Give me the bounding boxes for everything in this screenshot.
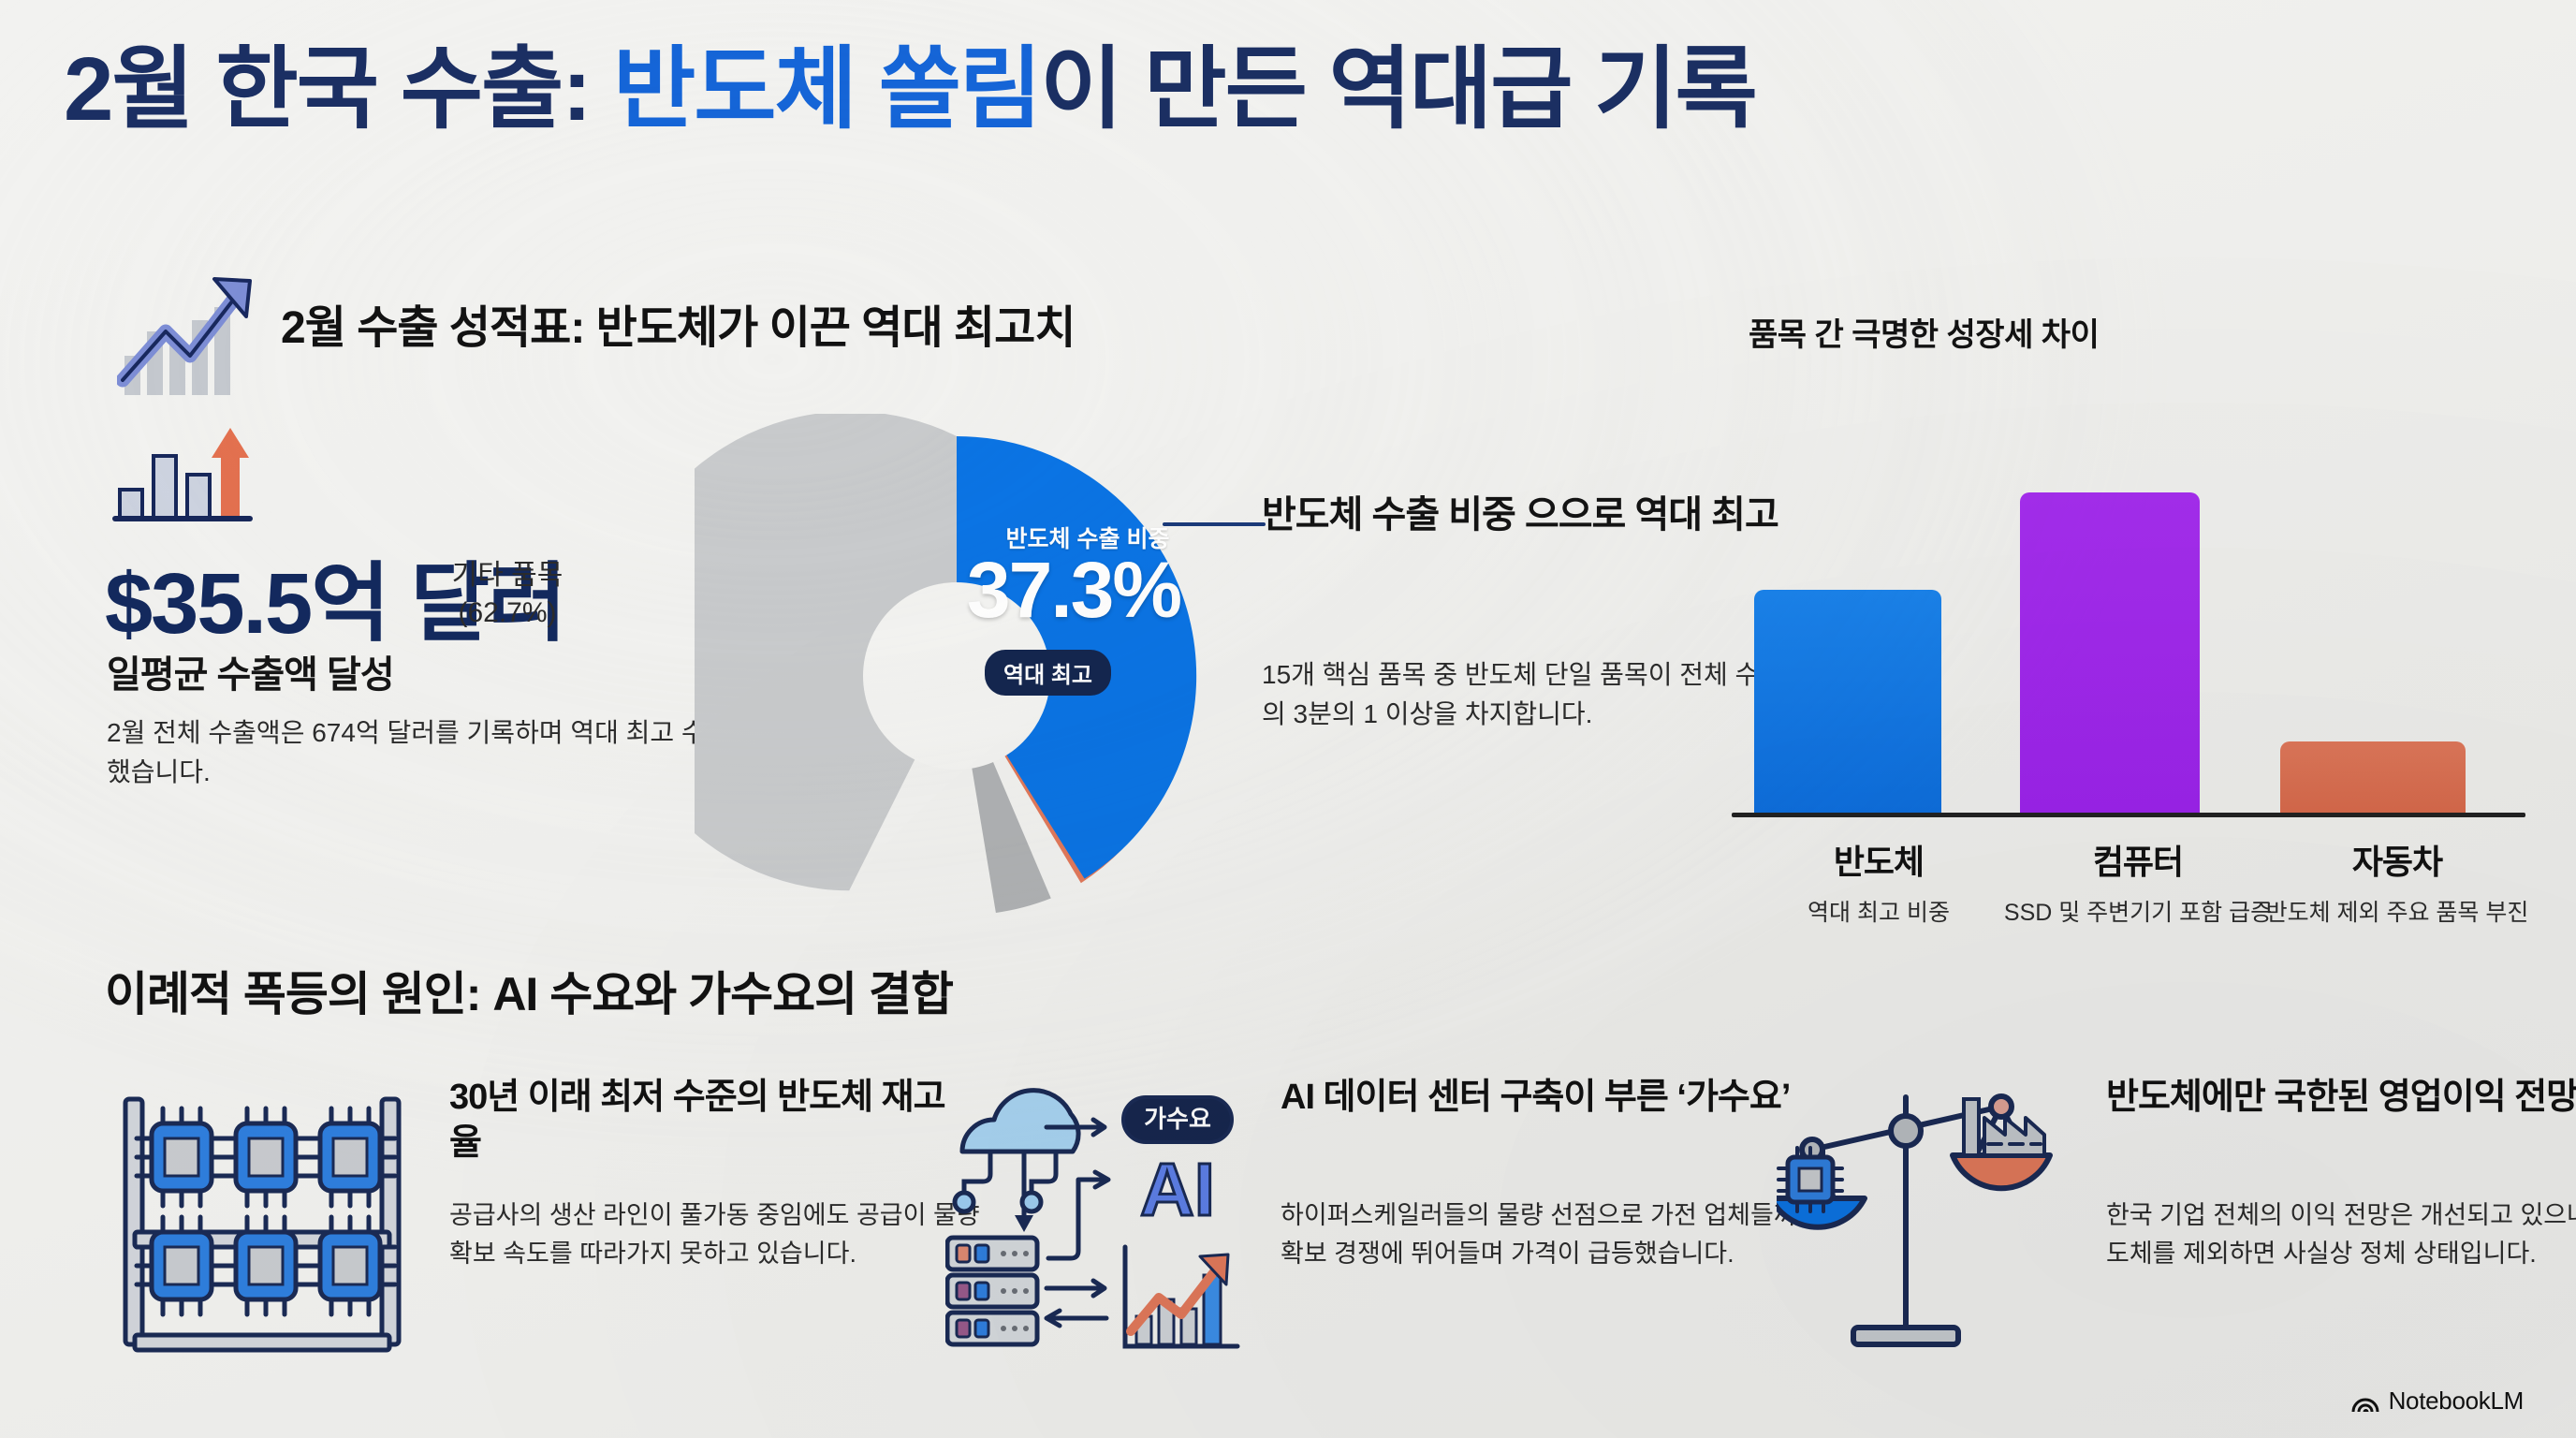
cloud-ai-demand-icon: 가수요 AI	[945, 1058, 1245, 1357]
server-rack-chips-icon	[112, 1067, 412, 1367]
bar-chart-baseline	[1732, 813, 2525, 817]
brand-name: NotebookLM	[2389, 1387, 2524, 1416]
callout-title: 반도체 수출 비중 으으로 역대 최고	[1262, 491, 1786, 539]
ai-label: AI	[1140, 1148, 1215, 1231]
bar-category-subcaption: 반도체 제외 주요 품목 부진	[2243, 897, 2552, 930]
card-body: 공급사의 생산 라인이 풀가동 중임에도 공급이 물량 확보 속도를 따라가지 …	[449, 1196, 983, 1273]
section-heading-right: 품목 간 극명한 성장세 차이	[1749, 309, 2099, 355]
section-heading-bottom: 이례적 폭등의 원인: AI 수요와 가수요의 결합	[105, 957, 953, 1024]
card-body: 하이퍼스케일러들의 물량 선점으로 가전 업체들까지 확보 경쟁에 뛰어들며 가…	[1281, 1196, 1842, 1273]
semiconductor-share-donut-chart: 반도체 수출 비중 37.3% 역대 최고	[695, 414, 1219, 938]
ai-badge-label: 가수요	[1144, 1105, 1211, 1133]
balance-scale-icon	[1777, 1058, 2076, 1357]
page-title: 2월 한국 수출: 반도체 쏠림이 만든 역대급 기록	[64, 43, 2460, 138]
donut-other-name: 기타 품목	[404, 557, 610, 594]
card-title: 반도체에만 국한된 영업이익 전망	[2106, 1075, 2576, 1121]
brand-footer: NotebookLM	[2351, 1387, 2524, 1416]
bar-category-automobile: 자동차 반도체 제외 주요 품목 부진	[2243, 835, 2552, 930]
title-part-before: 2월 한국 수출:	[64, 39, 613, 139]
card-title: 30년 이래 최저 수준의 반도체 재고율	[449, 1075, 955, 1167]
card-title: AI 데이터 센터 구축이 부른 ‘가수요’	[1281, 1075, 1805, 1121]
title-part-after: 이 만든 역대급 기록	[1040, 39, 1756, 139]
donut-other-value: (62.7%)	[404, 594, 610, 632]
bar-computer	[2020, 492, 2200, 814]
section-heading-left: 2월 수출 성적표: 반도체가 이끈 역대 최고치	[281, 290, 1075, 356]
trend-up-chart-icon	[117, 270, 257, 401]
bar-semiconductor	[1754, 590, 1941, 814]
notebooklm-logo-icon	[2351, 1389, 2379, 1414]
callout-body: 15개 핵심 품목 중 반도체 단일 품목이 전체 수출의 3분의 1 이상을 …	[1262, 655, 1786, 734]
title-part-highlight: 반도체 쏠림	[613, 39, 1040, 139]
bar-chart-up-icon	[112, 426, 253, 529]
card-body: 한국 기업 전체의 이익 전망은 개선되고 있으나, 반도체를 제외하면 사실상…	[2106, 1196, 2576, 1273]
category-growth-bar-chart	[1749, 440, 2497, 814]
donut-other-label: 기타 품목 (62.7%)	[404, 557, 610, 631]
stat-subtitle: 일평균 수출액 달성	[107, 644, 394, 698]
bar-category-label: 자동차	[2243, 835, 2552, 884]
bar-automobile	[2280, 741, 2466, 814]
callout-leader-line	[1163, 522, 1266, 526]
